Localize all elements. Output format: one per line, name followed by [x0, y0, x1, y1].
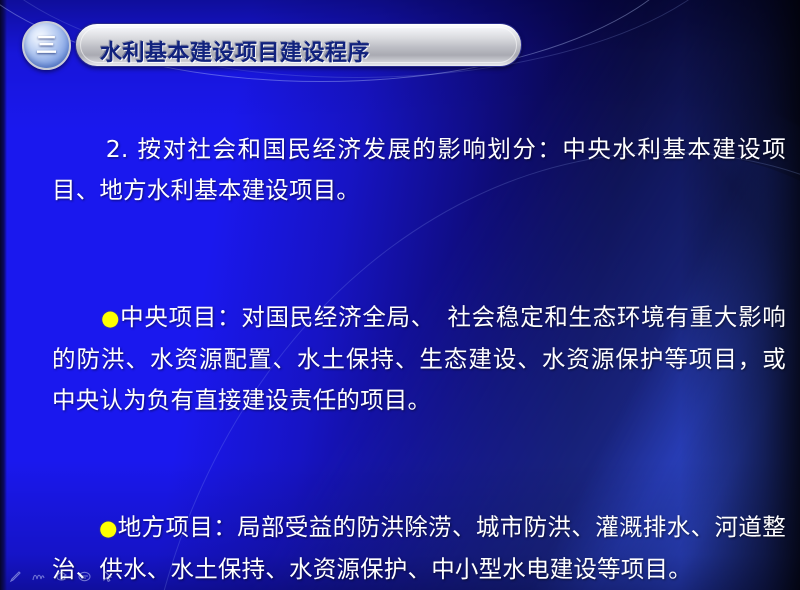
paragraph-local-project: ●地方项目：局部受益的防洪除涝、城市防洪、灌溉排水、河道整治、供水、水土保持、水… — [0, 466, 800, 590]
bullet-icon: ● — [99, 516, 118, 540]
paragraph-text: 中央项目：对国民经济全局、 社会稳定和生态环境有重大影响的防洪、水资源配置、水土… — [52, 303, 786, 414]
page-title: 水利基本建设项目建设程序 — [100, 35, 370, 67]
paragraph-text: 2. 按对社会和国民经济发展的影响划分：中央水利基本建设项目、地方水利基本建设项… — [52, 135, 786, 204]
paragraph-text: 地方项目：局部受益的防洪除涝、城市防洪、灌溉排水、河道整治、供水、水土保持、水资… — [52, 513, 786, 583]
bullet-icon: ● — [101, 306, 120, 330]
paragraph-item-2: 2. 按对社会和国民经济发展的影响划分：中央水利基本建设项目、地方水利基本建设项… — [0, 88, 800, 252]
slide-navigation-toolbar[interactable] — [8, 569, 115, 584]
scribble-icon[interactable] — [31, 569, 46, 584]
paragraph-central-project: ●中央项目：对国民经济全局、 社会稳定和生态环境有重大影响的防洪、水资源配置、水… — [0, 256, 800, 462]
cursor-icon[interactable] — [100, 569, 115, 584]
section-number-glyph: 三 — [36, 35, 57, 56]
section-number-badge: 三 — [22, 21, 71, 70]
pen-icon[interactable] — [8, 569, 23, 584]
slide-title-bar: 三 水利基本建设项目建设程序 — [22, 21, 522, 69]
slide-menu-icon[interactable] — [77, 569, 92, 584]
slide-body: 2. 按对社会和国民经济发展的影响划分：中央水利基本建设项目、地方水利基本建设项… — [0, 88, 800, 590]
presentation-slide: 三 水利基本建设项目建设程序 2. 按对社会和国民经济发展的影响划分：中央水利基… — [0, 0, 800, 590]
arrow-pointer-icon[interactable] — [54, 569, 69, 584]
